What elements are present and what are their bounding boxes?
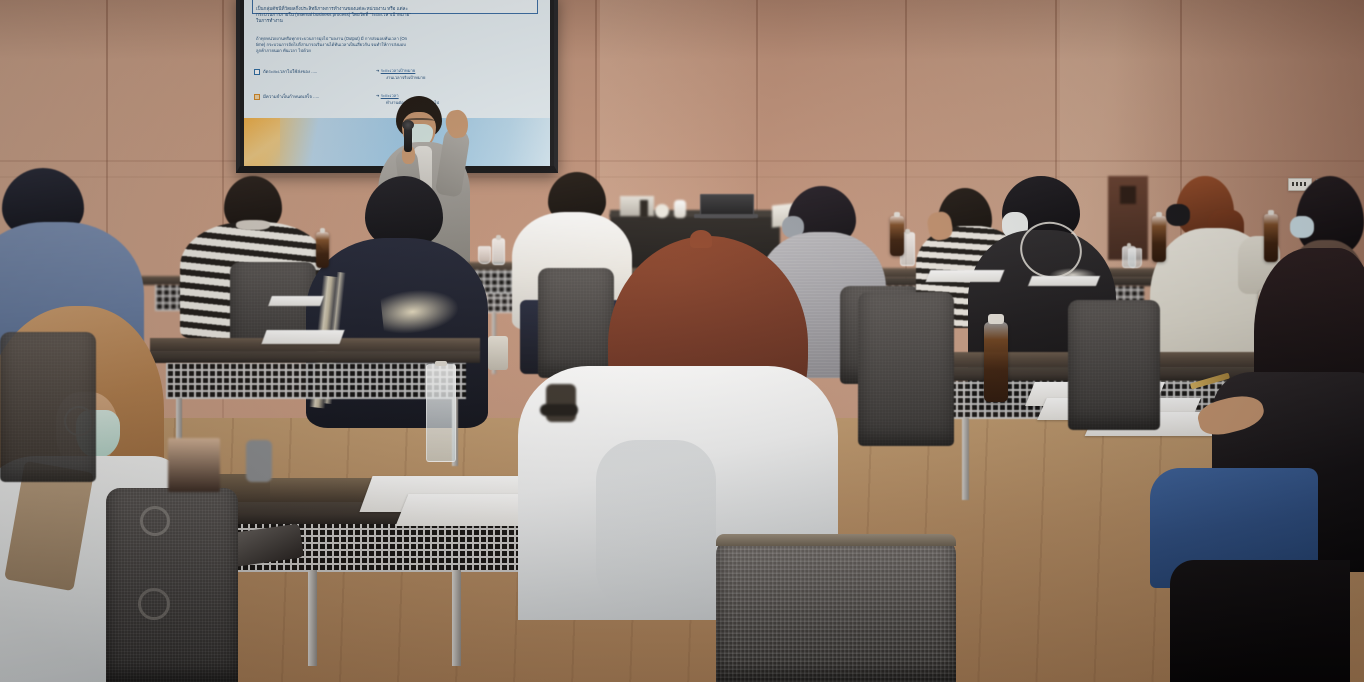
microphone-head-icon [402, 120, 414, 130]
under-table-graphic [168, 438, 220, 492]
slide-bullet-1: ถัดระยะเวลาไปใช้ส่งของ ..... [254, 68, 317, 75]
chair-rivet-icon [140, 506, 170, 536]
slide-bullet-1-answer-text: ระยะเวลาเป้าหมาย [381, 68, 416, 73]
drinking-glass[interactable] [478, 246, 491, 264]
beverage-bottle[interactable] [316, 232, 329, 268]
slide-line-3: ในการทำงาน [256, 18, 542, 24]
bottle-cap-icon [988, 314, 1004, 324]
track-jacket-logo-icon [380, 286, 460, 336]
cup-icon [655, 204, 669, 218]
attendee-striped-woman-mask-strap [236, 220, 270, 230]
slide-bullet-2-answer-text: ระยะเวลา [381, 93, 399, 98]
slide-bullet-2-answer: ➔ ระยะเวลา [376, 93, 399, 98]
table-mid-left-panel [166, 363, 466, 399]
table-leg [308, 570, 317, 666]
slide-para2-line-2: time) กระบวนการถัดไปก็สามารถเริ่มงานได้ท… [256, 42, 542, 48]
beverage-bottle[interactable] [1152, 216, 1166, 262]
slide-bullet-2-label: มีความจำเป็นกำหนดเสร็จ ..... [263, 93, 319, 100]
beverage-bottle[interactable] [1264, 214, 1278, 262]
beverage-bottle[interactable] [890, 216, 904, 256]
laptop-base [694, 214, 758, 218]
table-leg [452, 570, 461, 666]
table-mid-left-edge [150, 351, 480, 363]
shoe-icon [540, 404, 578, 416]
projector-screen: time, delay เป็นกลุ่มดัชนีที่วัดผลกึ่งปร… [236, 0, 558, 173]
blouse-shadow-fold [596, 440, 716, 610]
slide-bullet-1-answer-sub: งานเวลาจริงเป้าหมาย [386, 75, 425, 80]
chair-foreground-center[interactable] [716, 538, 956, 682]
handout-paper[interactable] [261, 330, 344, 344]
seated-leg [246, 440, 272, 482]
seminar-room-photo: time, delay เป็นกลุ่มดัชนีที่วัดผลกึ่งปร… [0, 0, 1364, 682]
arrow-icon-2: ➔ [376, 93, 380, 98]
chair-top-rail [716, 534, 956, 546]
slide-bullet-1-label: ถัดระยะเวลาไปใช้ส่งของ ..... [263, 68, 317, 75]
water-bottle[interactable] [426, 364, 456, 462]
water-bottle[interactable] [1122, 246, 1136, 268]
table-leg [962, 418, 969, 500]
checkbox-icon [254, 69, 260, 75]
seated-leg [546, 384, 576, 422]
slide-surface: time, delay เป็นกลุ่มดัชนีที่วัดผลกึ่งปร… [244, 0, 550, 120]
chair-mid-right[interactable] [858, 292, 954, 446]
chair-rivet-icon-2 [138, 588, 170, 620]
coffee-cup[interactable] [488, 336, 508, 370]
wall-recess-inset [1120, 186, 1136, 204]
slide-para2-line-1: ถ้าทุกหน่วยงานหรือทุกกระบวนการมุ่งไป "ผล… [256, 36, 542, 42]
water-bottle[interactable] [492, 238, 505, 265]
chair-front-left[interactable] [106, 488, 238, 682]
attendee-dark-hair-right-woman-mask [1290, 216, 1314, 238]
chair-far-left[interactable] [0, 332, 96, 482]
attendee-cream-hoodie-woman-mask [1166, 204, 1190, 226]
slide-bullet-2: มีความจำเป็นกำหนดเสร็จ ..... [254, 93, 319, 100]
checkbox-icon-2 [254, 94, 260, 100]
slide-bullet-1-answer: ➔ ระยะเวลาเป้าหมาย [376, 68, 415, 73]
handout-paper[interactable] [1028, 276, 1100, 286]
av-box-white [620, 196, 654, 216]
attendee-foreground-right-woman-lower [1170, 560, 1350, 682]
chair-center-back[interactable] [538, 268, 614, 378]
beverage-bottle[interactable] [984, 322, 1008, 402]
handout-paper[interactable] [926, 270, 1005, 282]
attendee-center-auburn-woman-hair-top [690, 230, 712, 248]
arrow-icon: ➔ [376, 68, 380, 73]
chair-right[interactable] [1068, 300, 1160, 430]
handout-paper[interactable] [268, 296, 324, 306]
slide-para2-line-3: ลูกค้าภายนอก ทันเวลา ไปด้วย [256, 48, 542, 54]
av-remote [640, 200, 648, 218]
vase-object [674, 200, 686, 218]
